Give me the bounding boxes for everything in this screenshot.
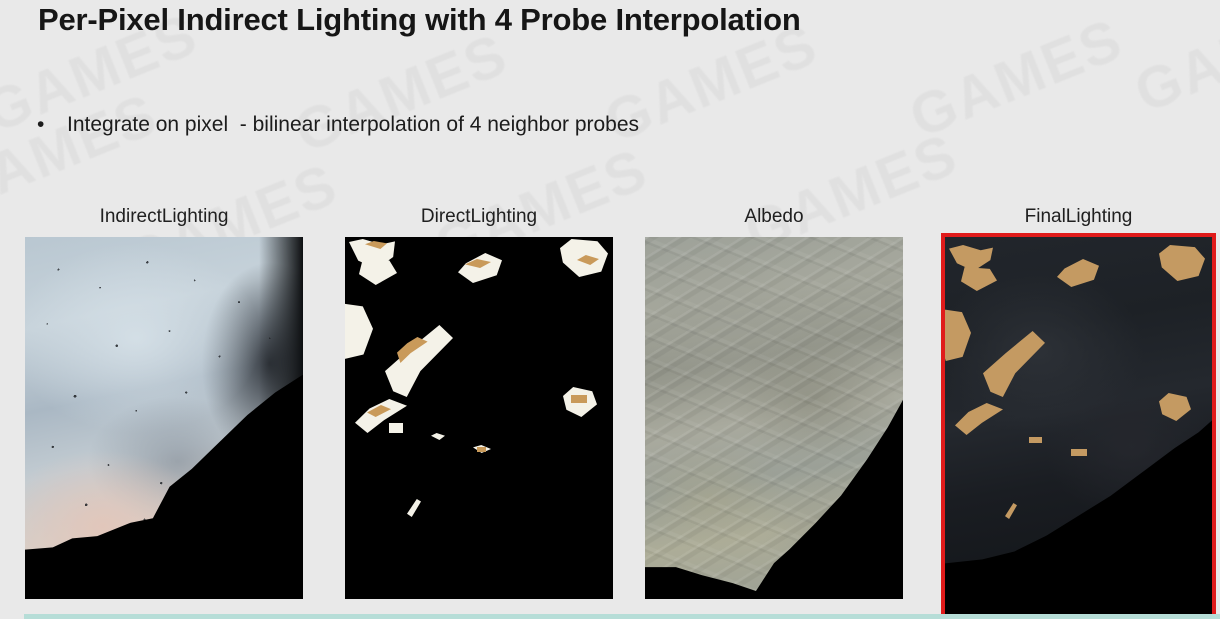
- bullet-item: • Integrate on pixel - bilinear interpol…: [37, 113, 639, 136]
- render-image-albedo: [645, 237, 903, 599]
- lit-patch: [385, 325, 453, 397]
- bullet-text: Integrate on pixel - bilinear interpolat…: [67, 113, 639, 136]
- slide-canvas: GAMES GAMES GAMES GAMES GAMES GAMES GAME…: [0, 0, 1220, 619]
- render-image-indirect-lighting: [25, 237, 303, 599]
- lit-patch: [345, 303, 373, 359]
- lit-patch: [389, 423, 403, 433]
- lit-patch-warm: [477, 447, 486, 452]
- footer-strip-gap: [0, 614, 24, 619]
- image-content: [345, 237, 613, 599]
- panel-caption: FinalLighting: [945, 206, 1212, 228]
- lit-patch: [458, 253, 502, 283]
- panel-caption: Albedo: [645, 206, 903, 228]
- lit-patch: [359, 259, 397, 285]
- render-image-final-lighting: [941, 233, 1216, 619]
- watermark-text: GAMES: [286, 21, 518, 167]
- footer-strip: [0, 614, 1220, 619]
- watermark-text: GAMES: [901, 6, 1133, 152]
- image-content: [945, 237, 1212, 619]
- lit-patch-warm: [1029, 437, 1042, 443]
- lit-patch-warm: [1071, 449, 1087, 456]
- panel-caption: DirectLighting: [345, 206, 613, 228]
- image-content: [645, 237, 903, 599]
- panel-caption: IndirectLighting: [25, 206, 303, 228]
- lit-patch: [407, 499, 421, 517]
- watermark-text: GAMES: [0, 81, 167, 227]
- lit-patch: [431, 433, 445, 440]
- lit-patch-warm: [571, 395, 587, 403]
- render-image-direct-lighting: [345, 237, 613, 599]
- page-title: Per-Pixel Indirect Lighting with 4 Probe…: [38, 2, 801, 38]
- watermark-text: GAMES: [1126, 0, 1220, 126]
- bullet-marker-icon: •: [37, 114, 67, 135]
- image-content: [25, 237, 303, 599]
